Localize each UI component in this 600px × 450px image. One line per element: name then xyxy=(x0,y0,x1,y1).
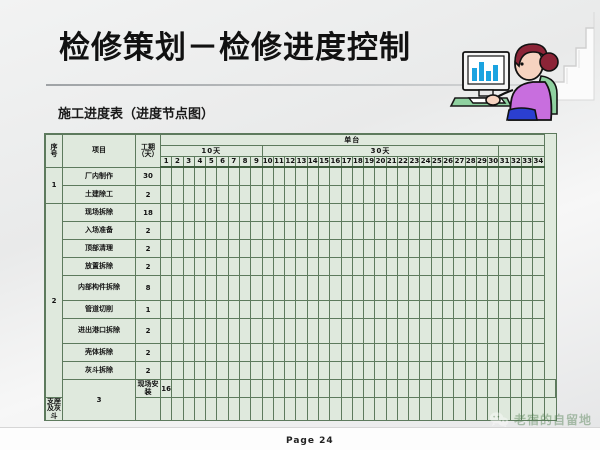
gantt-bar-cell[interactable] xyxy=(318,204,329,222)
gantt-empty-cell[interactable] xyxy=(533,380,544,398)
gantt-empty-cell[interactable] xyxy=(443,222,454,240)
gantt-empty-cell[interactable] xyxy=(431,222,442,240)
gantt-bar-cell[interactable] xyxy=(352,380,363,398)
gantt-bar-cell[interactable] xyxy=(341,204,352,222)
gantt-empty-cell[interactable] xyxy=(454,186,465,204)
gantt-empty-cell[interactable] xyxy=(296,301,307,319)
gantt-bar-cell[interactable] xyxy=(161,222,172,240)
gantt-empty-cell[interactable] xyxy=(239,398,250,421)
gantt-empty-cell[interactable] xyxy=(172,258,183,276)
gantt-empty-cell[interactable] xyxy=(251,258,262,276)
gantt-empty-cell[interactable] xyxy=(228,186,239,204)
gantt-empty-cell[interactable] xyxy=(285,362,296,380)
gantt-empty-cell[interactable] xyxy=(183,186,194,204)
gantt-empty-cell[interactable] xyxy=(364,276,375,301)
table-row[interactable]: 放置拆除2 xyxy=(46,258,556,276)
gantt-empty-cell[interactable] xyxy=(454,240,465,258)
gantt-empty-cell[interactable] xyxy=(409,258,420,276)
gantt-empty-cell[interactable] xyxy=(476,258,487,276)
gantt-empty-cell[interactable] xyxy=(499,258,510,276)
gantt-bar-cell[interactable] xyxy=(251,204,262,222)
gantt-empty-cell[interactable] xyxy=(454,319,465,344)
gantt-empty-cell[interactable] xyxy=(341,240,352,258)
gantt-empty-cell[interactable] xyxy=(431,319,442,344)
gantt-empty-cell[interactable] xyxy=(375,301,386,319)
gantt-bar-cell[interactable] xyxy=(194,204,205,222)
gantt-empty-cell[interactable] xyxy=(386,362,397,380)
gantt-empty-cell[interactable] xyxy=(330,186,341,204)
gantt-empty-cell[interactable] xyxy=(409,276,420,301)
gantt-empty-cell[interactable] xyxy=(375,319,386,344)
gantt-empty-cell[interactable] xyxy=(307,258,318,276)
gantt-empty-cell[interactable] xyxy=(443,258,454,276)
gantt-empty-cell[interactable] xyxy=(488,362,499,380)
gantt-empty-cell[interactable] xyxy=(476,344,487,362)
gantt-empty-cell[interactable] xyxy=(397,301,408,319)
gantt-empty-cell[interactable] xyxy=(296,222,307,240)
gantt-empty-cell[interactable] xyxy=(183,319,194,344)
gantt-empty-cell[interactable] xyxy=(251,398,262,421)
gantt-empty-cell[interactable] xyxy=(375,186,386,204)
gantt-empty-cell[interactable] xyxy=(522,362,533,380)
gantt-empty-cell[interactable] xyxy=(217,380,228,398)
gantt-empty-cell[interactable] xyxy=(533,258,544,276)
gantt-empty-cell[interactable] xyxy=(352,186,363,204)
gantt-empty-cell[interactable] xyxy=(341,398,352,421)
gantt-empty-cell[interactable] xyxy=(386,344,397,362)
gantt-empty-cell[interactable] xyxy=(330,222,341,240)
gantt-empty-cell[interactable] xyxy=(420,240,431,258)
gantt-bar-cell[interactable] xyxy=(262,204,273,222)
gantt-empty-cell[interactable] xyxy=(364,186,375,204)
gantt-empty-cell[interactable] xyxy=(307,344,318,362)
gantt-empty-cell[interactable] xyxy=(251,319,262,344)
gantt-empty-cell[interactable] xyxy=(375,362,386,380)
gantt-empty-cell[interactable] xyxy=(307,362,318,380)
gantt-empty-cell[interactable] xyxy=(533,344,544,362)
gantt-empty-cell[interactable] xyxy=(307,301,318,319)
gantt-empty-cell[interactable] xyxy=(228,222,239,240)
gantt-bar-cell[interactable] xyxy=(239,276,250,301)
gantt-empty-cell[interactable] xyxy=(533,319,544,344)
gantt-empty-cell[interactable] xyxy=(420,258,431,276)
gantt-empty-cell[interactable] xyxy=(296,398,307,421)
gantt-bar-cell[interactable] xyxy=(330,204,341,222)
gantt-empty-cell[interactable] xyxy=(443,344,454,362)
gantt-empty-cell[interactable] xyxy=(431,362,442,380)
gantt-empty-cell[interactable] xyxy=(352,222,363,240)
gantt-empty-cell[interactable] xyxy=(161,186,172,204)
gantt-bar-cell[interactable] xyxy=(206,186,217,204)
gantt-empty-cell[interactable] xyxy=(307,222,318,240)
gantt-empty-cell[interactable] xyxy=(544,380,555,398)
gantt-empty-cell[interactable] xyxy=(533,240,544,258)
gantt-empty-cell[interactable] xyxy=(206,344,217,362)
gantt-empty-cell[interactable] xyxy=(510,276,521,301)
gantt-bar-cell[interactable] xyxy=(239,167,250,186)
gantt-empty-cell[interactable] xyxy=(499,167,510,186)
gantt-empty-cell[interactable] xyxy=(476,204,487,222)
gantt-empty-cell[interactable] xyxy=(431,276,442,301)
gantt-empty-cell[interactable] xyxy=(172,319,183,344)
gantt-empty-cell[interactable] xyxy=(431,301,442,319)
gantt-empty-cell[interactable] xyxy=(522,276,533,301)
gantt-empty-cell[interactable] xyxy=(217,186,228,204)
gantt-empty-cell[interactable] xyxy=(239,362,250,380)
gantt-empty-cell[interactable] xyxy=(533,204,544,222)
gantt-empty-cell[interactable] xyxy=(206,319,217,344)
gantt-bar-cell[interactable] xyxy=(397,167,408,186)
gantt-bar-cell[interactable] xyxy=(194,276,205,301)
gantt-empty-cell[interactable] xyxy=(465,319,476,344)
gantt-empty-cell[interactable] xyxy=(397,276,408,301)
gantt-empty-cell[interactable] xyxy=(341,344,352,362)
gantt-empty-cell[interactable] xyxy=(522,380,533,398)
gantt-bar-cell[interactable] xyxy=(262,362,273,380)
gantt-empty-cell[interactable] xyxy=(273,276,284,301)
gantt-empty-cell[interactable] xyxy=(409,222,420,240)
gantt-bar-cell[interactable] xyxy=(420,167,431,186)
gantt-empty-cell[interactable] xyxy=(228,380,239,398)
gantt-bar-cell[interactable] xyxy=(228,167,239,186)
gantt-empty-cell[interactable] xyxy=(262,398,273,421)
gantt-empty-cell[interactable] xyxy=(183,276,194,301)
gantt-empty-cell[interactable] xyxy=(262,222,273,240)
gantt-empty-cell[interactable] xyxy=(499,222,510,240)
gantt-empty-cell[interactable] xyxy=(431,240,442,258)
gantt-empty-cell[interactable] xyxy=(307,240,318,258)
gantt-bar-cell[interactable] xyxy=(172,167,183,186)
table-row[interactable]: 3现场安装16 xyxy=(46,380,556,398)
gantt-empty-cell[interactable] xyxy=(510,167,521,186)
gantt-empty-cell[interactable] xyxy=(488,344,499,362)
gantt-empty-cell[interactable] xyxy=(397,258,408,276)
gantt-empty-cell[interactable] xyxy=(431,186,442,204)
gantt-bar-cell[interactable] xyxy=(206,167,217,186)
gantt-empty-cell[interactable] xyxy=(172,380,183,398)
gantt-empty-cell[interactable] xyxy=(183,380,194,398)
gantt-empty-cell[interactable] xyxy=(364,222,375,240)
gantt-empty-cell[interactable] xyxy=(397,362,408,380)
gantt-empty-cell[interactable] xyxy=(285,258,296,276)
gantt-empty-cell[interactable] xyxy=(161,362,172,380)
gantt-bar-cell[interactable] xyxy=(409,380,420,398)
gantt-empty-cell[interactable] xyxy=(251,276,262,301)
gantt-empty-cell[interactable] xyxy=(364,362,375,380)
gantt-empty-cell[interactable] xyxy=(330,301,341,319)
gantt-bar-cell[interactable] xyxy=(341,380,352,398)
gantt-empty-cell[interactable] xyxy=(465,398,476,421)
gantt-empty-cell[interactable] xyxy=(318,222,329,240)
gantt-bar-cell[interactable] xyxy=(443,167,454,186)
gantt-empty-cell[interactable] xyxy=(397,204,408,222)
gantt-empty-cell[interactable] xyxy=(431,398,442,421)
gantt-empty-cell[interactable] xyxy=(499,319,510,344)
gantt-empty-cell[interactable] xyxy=(352,344,363,362)
gantt-empty-cell[interactable] xyxy=(161,344,172,362)
gantt-empty-cell[interactable] xyxy=(386,301,397,319)
gantt-empty-cell[interactable] xyxy=(206,222,217,240)
gantt-empty-cell[interactable] xyxy=(465,276,476,301)
gantt-empty-cell[interactable] xyxy=(375,276,386,301)
gantt-empty-cell[interactable] xyxy=(352,301,363,319)
gantt-empty-cell[interactable] xyxy=(172,362,183,380)
gantt-empty-cell[interactable] xyxy=(364,319,375,344)
gantt-empty-cell[interactable] xyxy=(296,362,307,380)
gantt-empty-cell[interactable] xyxy=(172,276,183,301)
gantt-bar-cell[interactable] xyxy=(217,204,228,222)
gantt-empty-cell[interactable] xyxy=(499,301,510,319)
gantt-bar-cell[interactable] xyxy=(251,344,262,362)
gantt-empty-cell[interactable] xyxy=(454,301,465,319)
gantt-bar-cell[interactable] xyxy=(217,167,228,186)
gantt-empty-cell[interactable] xyxy=(318,240,329,258)
gantt-bar-cell[interactable] xyxy=(375,380,386,398)
gantt-bar-cell[interactable] xyxy=(296,380,307,398)
gantt-empty-cell[interactable] xyxy=(194,319,205,344)
gantt-empty-cell[interactable] xyxy=(375,240,386,258)
gantt-empty-cell[interactable] xyxy=(194,186,205,204)
gantt-empty-cell[interactable] xyxy=(454,398,465,421)
gantt-empty-cell[interactable] xyxy=(228,344,239,362)
gantt-empty-cell[interactable] xyxy=(318,186,329,204)
gantt-empty-cell[interactable] xyxy=(330,276,341,301)
gantt-empty-cell[interactable] xyxy=(386,258,397,276)
gantt-empty-cell[interactable] xyxy=(217,258,228,276)
gantt-bar-cell[interactable] xyxy=(206,204,217,222)
gantt-bar-cell[interactable] xyxy=(318,167,329,186)
gantt-empty-cell[interactable] xyxy=(499,276,510,301)
gantt-empty-cell[interactable] xyxy=(375,222,386,240)
gantt-bar-cell[interactable] xyxy=(161,167,172,186)
gantt-empty-cell[interactable] xyxy=(228,362,239,380)
gantt-empty-cell[interactable] xyxy=(251,380,262,398)
gantt-bar-cell[interactable] xyxy=(285,380,296,398)
gantt-bar-cell[interactable] xyxy=(476,167,487,186)
gantt-empty-cell[interactable] xyxy=(476,276,487,301)
gantt-empty-cell[interactable] xyxy=(386,204,397,222)
gantt-bar-cell[interactable] xyxy=(273,167,284,186)
gantt-bar-cell[interactable] xyxy=(318,380,329,398)
gantt-bar-cell[interactable] xyxy=(386,167,397,186)
gantt-empty-cell[interactable] xyxy=(420,344,431,362)
gantt-empty-cell[interactable] xyxy=(443,319,454,344)
gantt-empty-cell[interactable] xyxy=(262,301,273,319)
gantt-bar-cell[interactable] xyxy=(431,167,442,186)
gantt-empty-cell[interactable] xyxy=(510,301,521,319)
gantt-bar-cell[interactable] xyxy=(239,319,250,344)
gantt-empty-cell[interactable] xyxy=(488,276,499,301)
gantt-empty-cell[interactable] xyxy=(386,398,397,421)
gantt-bar-cell[interactable] xyxy=(183,167,194,186)
gantt-empty-cell[interactable] xyxy=(183,344,194,362)
gantt-empty-cell[interactable] xyxy=(431,344,442,362)
gantt-empty-cell[interactable] xyxy=(352,276,363,301)
gantt-bar-cell[interactable] xyxy=(352,204,363,222)
gantt-empty-cell[interactable] xyxy=(499,186,510,204)
gantt-empty-cell[interactable] xyxy=(206,301,217,319)
gantt-empty-cell[interactable] xyxy=(217,319,228,344)
gantt-empty-cell[interactable] xyxy=(409,398,420,421)
gantt-bar-cell[interactable] xyxy=(443,380,454,398)
gantt-empty-cell[interactable] xyxy=(341,258,352,276)
gantt-empty-cell[interactable] xyxy=(296,344,307,362)
gantt-empty-cell[interactable] xyxy=(420,204,431,222)
gantt-empty-cell[interactable] xyxy=(488,222,499,240)
table-row[interactable]: 1厂内制作30 xyxy=(46,167,556,186)
gantt-empty-cell[interactable] xyxy=(443,362,454,380)
gantt-bar-cell[interactable] xyxy=(172,204,183,222)
gantt-empty-cell[interactable] xyxy=(431,258,442,276)
gantt-empty-cell[interactable] xyxy=(330,258,341,276)
gantt-empty-cell[interactable] xyxy=(420,319,431,344)
gantt-empty-cell[interactable] xyxy=(206,362,217,380)
gantt-empty-cell[interactable] xyxy=(409,362,420,380)
gantt-empty-cell[interactable] xyxy=(397,319,408,344)
gantt-empty-cell[interactable] xyxy=(522,222,533,240)
gantt-empty-cell[interactable] xyxy=(443,204,454,222)
gantt-bar-cell[interactable] xyxy=(307,380,318,398)
gantt-empty-cell[interactable] xyxy=(296,258,307,276)
gantt-empty-cell[interactable] xyxy=(522,240,533,258)
gantt-empty-cell[interactable] xyxy=(443,398,454,421)
gantt-empty-cell[interactable] xyxy=(499,362,510,380)
gantt-empty-cell[interactable] xyxy=(262,276,273,301)
gantt-bar-cell[interactable] xyxy=(183,258,194,276)
gantt-empty-cell[interactable] xyxy=(465,222,476,240)
gantt-bar-cell[interactable] xyxy=(194,167,205,186)
gantt-empty-cell[interactable] xyxy=(522,258,533,276)
gantt-empty-cell[interactable] xyxy=(239,240,250,258)
gantt-bar-cell[interactable] xyxy=(183,204,194,222)
gantt-empty-cell[interactable] xyxy=(420,222,431,240)
gantt-empty-cell[interactable] xyxy=(476,240,487,258)
gantt-empty-cell[interactable] xyxy=(499,344,510,362)
gantt-bar-cell[interactable] xyxy=(217,276,228,301)
table-row[interactable]: 进出港口拆除2 xyxy=(46,319,556,344)
table-row[interactable]: 内部构件拆除8 xyxy=(46,276,556,301)
table-row[interactable]: 灰斗拆除2 xyxy=(46,362,556,380)
gantt-empty-cell[interactable] xyxy=(172,398,183,421)
gantt-empty-cell[interactable] xyxy=(206,398,217,421)
gantt-bar-cell[interactable] xyxy=(307,204,318,222)
gantt-empty-cell[interactable] xyxy=(251,186,262,204)
gantt-empty-cell[interactable] xyxy=(273,344,284,362)
gantt-empty-cell[interactable] xyxy=(273,258,284,276)
gantt-empty-cell[interactable] xyxy=(206,258,217,276)
gantt-empty-cell[interactable] xyxy=(307,398,318,421)
gantt-empty-cell[interactable] xyxy=(499,240,510,258)
gantt-empty-cell[interactable] xyxy=(364,301,375,319)
gantt-bar-cell[interactable] xyxy=(228,301,239,319)
gantt-empty-cell[interactable] xyxy=(172,301,183,319)
gantt-empty-cell[interactable] xyxy=(465,186,476,204)
gantt-bar-cell[interactable] xyxy=(251,167,262,186)
gantt-empty-cell[interactable] xyxy=(352,319,363,344)
gantt-empty-cell[interactable] xyxy=(161,319,172,344)
gantt-empty-cell[interactable] xyxy=(397,222,408,240)
gantt-empty-cell[interactable] xyxy=(251,301,262,319)
gantt-empty-cell[interactable] xyxy=(510,240,521,258)
gantt-empty-cell[interactable] xyxy=(431,204,442,222)
gantt-empty-cell[interactable] xyxy=(488,186,499,204)
gantt-bar-cell[interactable] xyxy=(228,204,239,222)
gantt-bar-cell[interactable] xyxy=(330,167,341,186)
gantt-bar-cell[interactable] xyxy=(206,276,217,301)
gantt-empty-cell[interactable] xyxy=(364,204,375,222)
gantt-empty-cell[interactable] xyxy=(386,222,397,240)
gantt-empty-cell[interactable] xyxy=(454,222,465,240)
gantt-empty-cell[interactable] xyxy=(364,398,375,421)
gantt-empty-cell[interactable] xyxy=(476,222,487,240)
gantt-empty-cell[interactable] xyxy=(318,258,329,276)
gantt-empty-cell[interactable] xyxy=(285,301,296,319)
gantt-empty-cell[interactable] xyxy=(465,362,476,380)
gantt-empty-cell[interactable] xyxy=(352,398,363,421)
gantt-empty-cell[interactable] xyxy=(307,186,318,204)
gantt-empty-cell[interactable] xyxy=(386,319,397,344)
gantt-empty-cell[interactable] xyxy=(239,344,250,362)
gantt-empty-cell[interactable] xyxy=(420,186,431,204)
gantt-empty-cell[interactable] xyxy=(510,362,521,380)
gantt-empty-cell[interactable] xyxy=(239,258,250,276)
gantt-empty-cell[interactable] xyxy=(318,301,329,319)
gantt-empty-cell[interactable] xyxy=(465,204,476,222)
gantt-empty-cell[interactable] xyxy=(273,301,284,319)
gantt-empty-cell[interactable] xyxy=(341,186,352,204)
gantt-empty-cell[interactable] xyxy=(375,204,386,222)
gantt-empty-cell[interactable] xyxy=(194,398,205,421)
gantt-empty-cell[interactable] xyxy=(386,240,397,258)
gantt-empty-cell[interactable] xyxy=(273,186,284,204)
gantt-empty-cell[interactable] xyxy=(194,240,205,258)
gantt-empty-cell[interactable] xyxy=(522,344,533,362)
gantt-empty-cell[interactable] xyxy=(364,344,375,362)
gantt-empty-cell[interactable] xyxy=(364,240,375,258)
table-row[interactable]: 管道切削1 xyxy=(46,301,556,319)
gantt-empty-cell[interactable] xyxy=(465,301,476,319)
gantt-empty-cell[interactable] xyxy=(476,186,487,204)
gantt-empty-cell[interactable] xyxy=(409,240,420,258)
gantt-empty-cell[interactable] xyxy=(510,319,521,344)
gantt-empty-cell[interactable] xyxy=(375,344,386,362)
gantt-empty-cell[interactable] xyxy=(273,222,284,240)
gantt-empty-cell[interactable] xyxy=(217,344,228,362)
gantt-empty-cell[interactable] xyxy=(183,301,194,319)
gantt-empty-cell[interactable] xyxy=(330,344,341,362)
gantt-empty-cell[interactable] xyxy=(409,301,420,319)
gantt-bar-cell[interactable] xyxy=(239,204,250,222)
gantt-empty-cell[interactable] xyxy=(352,362,363,380)
gantt-empty-cell[interactable] xyxy=(443,276,454,301)
gantt-empty-cell[interactable] xyxy=(420,398,431,421)
gantt-empty-cell[interactable] xyxy=(476,301,487,319)
gantt-bar-cell[interactable] xyxy=(341,167,352,186)
gantt-bar-cell[interactable] xyxy=(454,380,465,398)
gantt-empty-cell[interactable] xyxy=(341,362,352,380)
gantt-empty-cell[interactable] xyxy=(161,276,172,301)
gantt-empty-cell[interactable] xyxy=(206,240,217,258)
gantt-bar-cell[interactable] xyxy=(330,380,341,398)
gantt-empty-cell[interactable] xyxy=(522,186,533,204)
gantt-empty-cell[interactable] xyxy=(533,167,544,186)
gantt-bar-cell[interactable] xyxy=(364,167,375,186)
gantt-empty-cell[interactable] xyxy=(476,362,487,380)
gantt-bar-cell[interactable] xyxy=(285,204,296,222)
gantt-empty-cell[interactable] xyxy=(488,319,499,344)
gantt-bar-cell[interactable] xyxy=(273,398,284,421)
gantt-empty-cell[interactable] xyxy=(533,186,544,204)
